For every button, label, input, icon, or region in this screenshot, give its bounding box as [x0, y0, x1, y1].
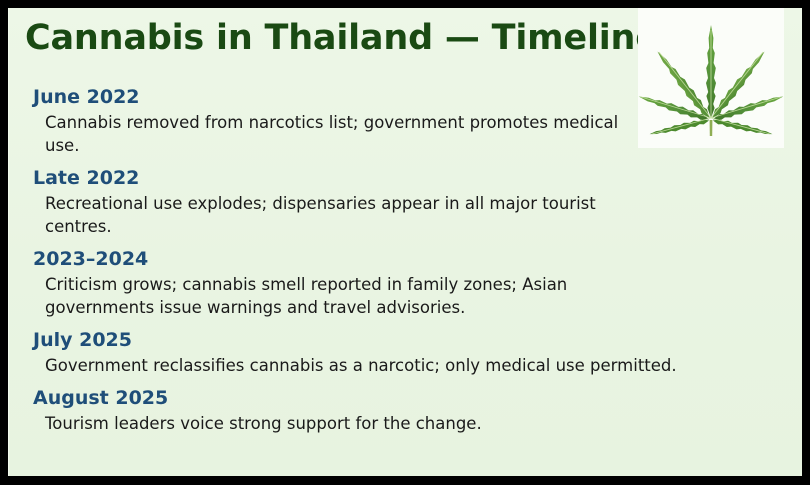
timeline-entry-description: Tourism leaders voice strong support for… — [9, 411, 802, 435]
timeline-entry-date: August 2025 — [9, 385, 802, 411]
timeline-entry: August 2025 Tourism leaders voice strong… — [9, 385, 802, 435]
timeline-entry-description: Recreational use explodes; dispensaries … — [9, 191, 802, 238]
timeline-entry: July 2025 Government reclassifies cannab… — [9, 327, 802, 377]
timeline-entry-date: July 2025 — [9, 327, 802, 353]
timeline-entry: June 2022 Cannabis removed from narcotic… — [9, 84, 802, 157]
timeline-entry-date: June 2022 — [9, 84, 802, 110]
timeline-entry-description: Cannabis removed from narcotics list; go… — [9, 110, 802, 157]
slide-frame: Cannabis in Thailand — Timeline — [0, 0, 810, 485]
timeline-entry: Late 2022 Recreational use explodes; dis… — [9, 165, 802, 238]
timeline-entry-description: Government reclassifies cannabis as a na… — [9, 353, 802, 377]
slide-card: Cannabis in Thailand — Timeline — [8, 8, 802, 476]
page-title: Cannabis in Thailand — Timeline — [25, 17, 659, 59]
timeline-entry: 2023–2024 Criticism grows; cannabis smel… — [9, 246, 802, 319]
timeline-entry-date: 2023–2024 — [9, 246, 802, 272]
timeline-list: June 2022 Cannabis removed from narcotic… — [9, 84, 802, 443]
timeline-entry-date: Late 2022 — [9, 165, 802, 191]
timeline-entry-description: Criticism grows; cannabis smell reported… — [9, 272, 802, 319]
